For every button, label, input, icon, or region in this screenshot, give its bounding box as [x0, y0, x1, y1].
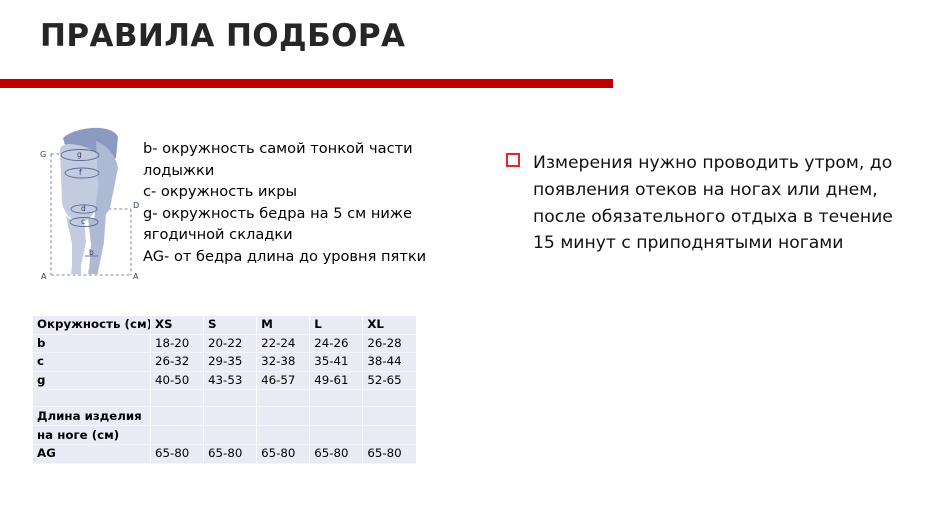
spacer-cell-label	[33, 390, 150, 407]
note-block: Измерения нужно проводить утром, до появ…	[506, 150, 906, 257]
section-cell-l-2	[310, 426, 363, 445]
section-cell-xl-2	[363, 426, 416, 445]
cell-c-xs: 26-32	[150, 353, 203, 372]
cell-ag-xl: 65-80	[363, 445, 416, 464]
bullet-square	[506, 153, 520, 167]
page-title: ПРАВИЛА ПОДБОРА	[40, 18, 405, 54]
section-cell-m-2	[257, 426, 310, 445]
cell-g-xs: 40-50	[150, 371, 203, 390]
section-label-line1: Длина изделия	[33, 407, 150, 426]
frame-label-A-right: A	[133, 272, 139, 281]
spacer-cell-m	[257, 390, 310, 407]
cell-c-m: 32-38	[257, 353, 310, 372]
cell-ag-m: 65-80	[257, 445, 310, 464]
cell-b-xl: 26-28	[363, 334, 416, 353]
spacer-cell-xl	[363, 390, 416, 407]
section-cell-m-1	[257, 407, 310, 426]
cell-ag-xs: 65-80	[150, 445, 203, 464]
cell-ag-l: 65-80	[310, 445, 363, 464]
row-label-g: g	[33, 371, 150, 390]
table-row: b 18-20 20-22 22-24 24-26 26-28	[33, 334, 416, 353]
cell-g-s: 43-53	[204, 371, 257, 390]
section-cell-xl-1	[363, 407, 416, 426]
cell-ag-s: 65-80	[204, 445, 257, 464]
measurement-legend: b- окружность самой тонкой части лодыжки…	[143, 138, 439, 267]
section-cell-xs-1	[150, 407, 203, 426]
red-square-bullet-icon	[506, 153, 519, 166]
table-section-row-line2: на ноге (см)	[33, 426, 416, 445]
measure-label-b: b	[89, 248, 94, 257]
leg-measurement-diagram: g f d c b G D A A	[36, 116, 148, 288]
row-label-b: b	[33, 334, 150, 353]
section-cell-s-1	[204, 407, 257, 426]
cell-b-s: 20-22	[204, 334, 257, 353]
note-bullet-row: Измерения нужно проводить утром, до появ…	[506, 150, 906, 257]
cell-c-xl: 38-44	[363, 353, 416, 372]
section-label-line2: на ноге (см)	[33, 426, 150, 445]
column-header-xl: XL	[363, 316, 416, 334]
section-cell-l-1	[310, 407, 363, 426]
cell-c-l: 35-41	[310, 353, 363, 372]
table-spacer-row	[33, 390, 416, 407]
row-label-c: c	[33, 353, 150, 372]
table-row: g 40-50 43-53 46-57 49-61 52-65	[33, 371, 416, 390]
column-header-xs: XS	[150, 316, 203, 334]
frame-label-G: G	[40, 150, 46, 159]
left-foot	[71, 266, 81, 274]
note-text: Измерения нужно проводить утром, до появ…	[533, 153, 893, 253]
spacer-cell-xs	[150, 390, 203, 407]
cell-g-xl: 52-65	[363, 371, 416, 390]
measure-label-g: g	[77, 150, 82, 159]
spacer-cell-l	[310, 390, 363, 407]
slide: ПРАВИЛА ПОДБОРА	[0, 0, 928, 505]
cell-g-m: 46-57	[257, 371, 310, 390]
row-label-ag: AG	[33, 445, 150, 464]
measure-label-f: f	[79, 168, 82, 177]
section-cell-xs-2	[150, 426, 203, 445]
right-foot	[88, 268, 98, 274]
leg-diagram-svg: g f d c b G D A A	[36, 116, 148, 288]
frame-label-A-left: A	[41, 272, 47, 281]
cell-c-s: 29-35	[204, 353, 257, 372]
section-cell-s-2	[204, 426, 257, 445]
column-header-s: S	[204, 316, 257, 334]
cell-b-xs: 18-20	[150, 334, 203, 353]
table-header-row: Окружность (см) XS S M L XL	[33, 316, 416, 334]
measure-label-d: d	[81, 204, 86, 213]
cell-b-m: 22-24	[257, 334, 310, 353]
legend-line-b: b- окружность самой тонкой части лодыжки	[143, 138, 439, 181]
spacer-cell-s	[204, 390, 257, 407]
frame-label-D: D	[133, 201, 139, 210]
column-header-l: L	[310, 316, 363, 334]
table-section-row-line1: Длина изделия	[33, 407, 416, 426]
legend-line-c: c- окружность икры	[143, 181, 439, 203]
table-row: c 26-32 29-35 32-38 35-41 38-44	[33, 353, 416, 372]
size-chart-table: Окружность (см) XS S M L XL b 18-20 20-2…	[33, 316, 416, 464]
legend-line-g: g- окружность бедра на 5 см ниже ягодичн…	[143, 203, 439, 246]
title-underline-bar	[0, 79, 613, 88]
table-row: AG 65-80 65-80 65-80 65-80 65-80	[33, 445, 416, 464]
right-lower-leg	[88, 212, 106, 272]
column-header-measure: Окружность (см)	[33, 316, 150, 334]
cell-g-l: 49-61	[310, 371, 363, 390]
legend-line-ag: AG- от бедра длина до уровня пятки	[143, 246, 439, 268]
column-header-m: M	[257, 316, 310, 334]
measure-label-c: c	[81, 217, 85, 226]
cell-b-l: 24-26	[310, 334, 363, 353]
